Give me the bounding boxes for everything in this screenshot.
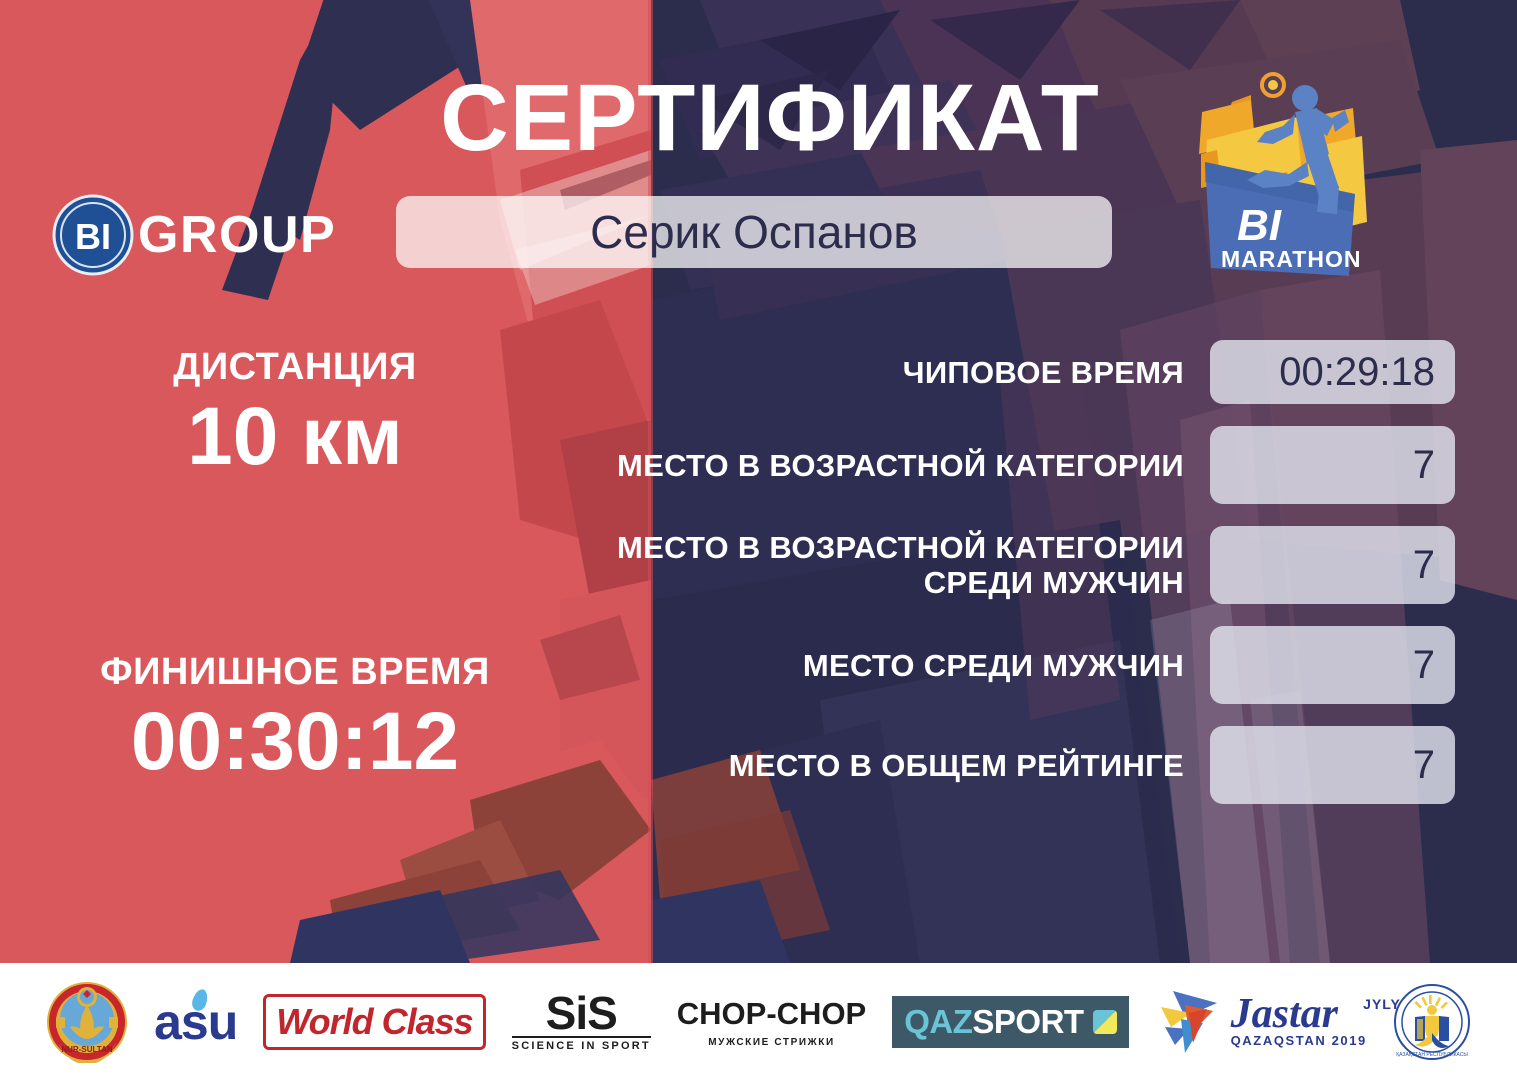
chop-chop-tagline: МУЖСКИЕ СТРИЖКИ [677,1037,866,1048]
right-stats-list: ЧИПОВОЕ ВРЕМЯ 00:29:18 МЕСТО В ВОЗРАСТНО… [610,340,1455,826]
svg-text:BI: BI [75,216,111,257]
chop-chop-block: CHOP-CHOP МУЖСКИЕ СТРИЖКИ [677,996,866,1048]
world-class-logo: World Class [263,977,485,1067]
certificate-canvas: СЕРТИФИКАТ BI GROUP Серик Оспанов [0,0,1517,963]
age-category-men-place-label: МЕСТО В ВОЗРАСТНОЙ КАТЕГОРИИ СРЕДИ МУЖЧИ… [610,530,1210,600]
sis-logo: SiS SCIENCE IN SPORT [512,977,651,1067]
finish-time-label: ФИНИШНОЕ ВРЕМЯ [60,650,530,694]
bi-marathon-logo: BI MARATHON [1177,62,1392,312]
jastar-year-text: QAZAQSTAN 2019 [1231,1033,1367,1048]
left-stat-finish-time: ФИНИШНОЕ ВРЕМЯ 00:30:12 [60,650,530,788]
nur-sultan-emblem-icon: NUR-SULTAN [46,977,128,1067]
overall-place-label: МЕСТО В ОБЩЕМ РЕЙТИНГЕ [610,748,1210,783]
chip-time-label: ЧИПОВОЕ ВРЕМЯ [610,355,1210,390]
chop-chop-logo: CHOP-CHOP МУЖСКИЕ СТРИЖКИ [677,977,866,1067]
men-place-value: 7 [1413,643,1435,688]
sponsor-strip: NUR-SULTAN asu World Class SiS SCIENCE I… [0,963,1517,1080]
world-class-wordmark: World Class [276,1001,472,1042]
stat-row-chip-time: ЧИПОВОЕ ВРЕМЯ 00:29:18 [610,340,1455,404]
men-place-label: МЕСТО СРЕДИ МУЖЧИН [610,648,1210,683]
sis-wordmark: SiS [512,992,651,1034]
stat-row-age-category-men-place: МЕСТО В ВОЗРАСТНОЙ КАТЕГОРИИ СРЕДИ МУЖЧИ… [610,526,1455,604]
jastar-arrow-icon [1155,983,1227,1061]
chip-time-value: 00:29:18 [1279,350,1435,395]
age-category-place-chip: 7 [1210,426,1455,504]
world-class-frame: World Class [263,994,485,1050]
asu-wordmark-container: asu [154,993,237,1051]
age-category-men-place-value: 7 [1413,543,1435,588]
jastar-wordmark: Jastar [1231,996,1367,1032]
bi-group-badge-icon: BI [52,194,134,276]
stat-row-overall-place: МЕСТО В ОБЩЕМ РЕЙТИНГЕ 7 [610,726,1455,804]
ministry-emblem-label: ҚАЗАҚСТАН РЕСПУБЛИКАСЫ [1396,1052,1468,1058]
qazsport-logo: QAZ SPORT [892,977,1128,1067]
jastar-jyly-text: JYLY [1363,996,1401,1012]
certificate-title: СЕРТИФИКАТ [390,63,1150,173]
qazsport-box: QAZ SPORT [892,996,1128,1048]
marathon-bi-text: BI [1237,201,1282,250]
distance-label: ДИСТАНЦИЯ [60,345,530,389]
nur-sultan-emblem-label: NUR-SULTAN [61,1045,112,1054]
overall-place-chip: 7 [1210,726,1455,804]
chop-chop-wordmark: CHOP-CHOP [677,996,866,1032]
jastar-text-block: Jastar JYLY QAZAQSTAN 2019 [1231,996,1367,1048]
overall-place-value: 7 [1413,743,1435,788]
left-stat-distance: ДИСТАНЦИЯ 10 км [60,345,530,483]
stat-row-age-category-place: МЕСТО В ВОЗРАСТНОЙ КАТЕГОРИИ 7 [610,426,1455,504]
jastar-jyly-logo: Jastar JYLY QAZAQSTAN 2019 [1155,977,1367,1067]
chip-time-chip: 00:29:18 [1210,340,1455,404]
distance-value: 10 км [60,391,530,483]
participant-name-chip: Серик Оспанов [396,196,1112,268]
qazsport-square-icon [1093,1010,1117,1034]
sis-block: SiS SCIENCE IN SPORT [512,992,651,1052]
bi-group-wordmark: GROUP [138,194,336,276]
finish-time-value: 00:30:12 [60,696,530,788]
age-category-place-value: 7 [1413,443,1435,488]
participant-name: Серик Оспанов [590,205,918,259]
marathon-word-text: MARATHON [1221,246,1361,272]
stat-row-men-place: МЕСТО СРЕДИ МУЖЧИН 7 [610,626,1455,704]
men-place-chip: 7 [1210,626,1455,704]
bi-group-logo: BI GROUP [52,194,336,276]
age-category-place-label: МЕСТО В ВОЗРАСТНОЙ КАТЕГОРИИ [610,448,1210,483]
qazsport-sport-text: SPORT [972,1003,1083,1041]
age-category-men-place-chip: 7 [1210,526,1455,604]
asu-logo: asu [154,977,237,1067]
ministry-of-culture-and-sports-emblem-icon: ҚАЗАҚСТАН РЕСПУБЛИКАСЫ [1393,977,1471,1067]
qazsport-qaz-text: QAZ [904,1003,972,1041]
